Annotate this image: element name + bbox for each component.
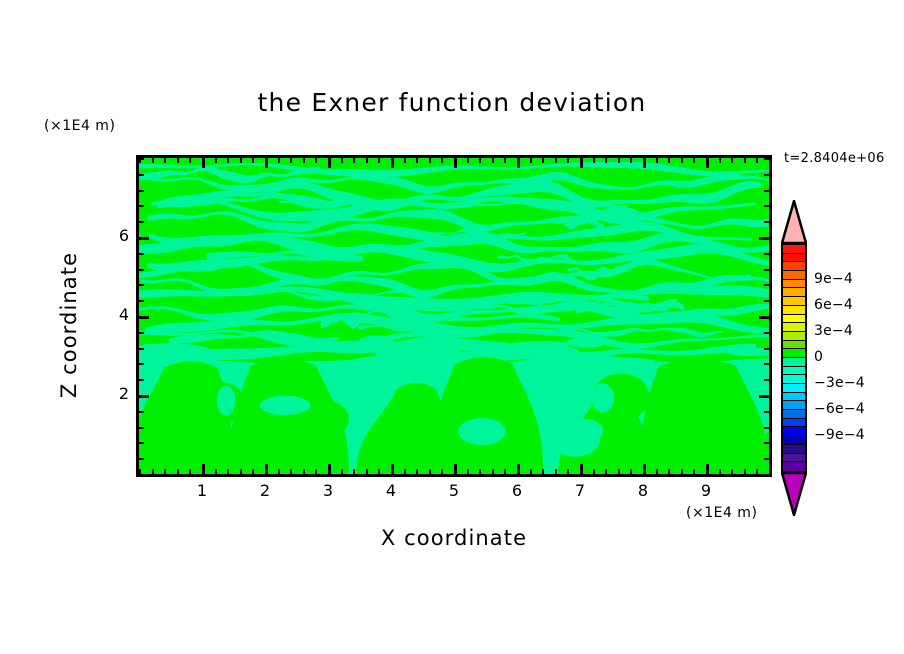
tick-mark — [353, 158, 355, 163]
x-tick-label: 1 — [187, 481, 217, 500]
colorbar-over-arrow-icon — [781, 200, 807, 244]
tick-mark — [681, 469, 683, 474]
page-title: the Exner function deviation — [0, 88, 904, 117]
tick-mark — [479, 469, 481, 474]
tick-mark — [202, 464, 205, 474]
colorbar-band — [783, 375, 805, 384]
tick-mark — [643, 464, 646, 474]
tick-mark — [756, 158, 758, 163]
tick-mark — [759, 237, 769, 240]
tick-mark — [240, 158, 242, 163]
tick-mark — [567, 469, 569, 474]
colorbar-band — [783, 393, 805, 402]
colorbar-band — [783, 367, 805, 376]
colorbar-tick-label: 0 — [814, 349, 823, 365]
tick-mark — [404, 158, 406, 163]
tick-mark — [265, 158, 268, 168]
tick-mark — [240, 469, 242, 474]
contour-field — [139, 158, 769, 474]
tick-mark — [731, 469, 733, 474]
tick-mark — [139, 284, 144, 286]
tick-mark — [139, 174, 144, 176]
tick-mark — [139, 237, 149, 240]
tick-mark — [542, 158, 544, 163]
tick-mark — [328, 158, 331, 168]
tick-mark — [139, 316, 149, 319]
tick-mark — [416, 469, 418, 474]
tick-mark — [139, 411, 144, 413]
tick-mark — [139, 442, 144, 444]
tick-mark — [719, 158, 721, 163]
tick-mark — [391, 464, 394, 474]
colorbar-tick-label: 6e−4 — [814, 297, 853, 313]
colorbar-band — [783, 349, 805, 358]
tick-mark — [139, 332, 144, 334]
tick-mark — [764, 253, 769, 255]
x-tick-label: 7 — [565, 481, 595, 500]
colorbar-band — [783, 323, 805, 332]
tick-mark — [278, 158, 280, 163]
tick-mark — [764, 174, 769, 176]
x-tick-label: 2 — [250, 481, 280, 500]
colorbar-band — [783, 297, 805, 306]
colorbar-band — [783, 245, 805, 254]
colorbar-band — [783, 315, 805, 324]
tick-mark — [303, 158, 305, 163]
colorbar-band — [783, 401, 805, 410]
tick-mark — [656, 158, 658, 163]
x-tick-label: 6 — [502, 481, 532, 500]
colorbar-band — [783, 384, 805, 393]
tick-mark — [693, 158, 695, 163]
x-axis-title: X coordinate — [136, 526, 772, 550]
tick-mark — [764, 332, 769, 334]
colorbar-band — [783, 254, 805, 263]
tick-mark — [366, 158, 368, 163]
tick-mark — [227, 158, 229, 163]
colorbar-band — [783, 332, 805, 341]
tick-mark — [366, 469, 368, 474]
tick-mark — [139, 395, 149, 398]
tick-mark — [618, 158, 620, 163]
y-tick-label: 4 — [99, 305, 129, 324]
tick-mark — [769, 158, 771, 163]
colorbar-band — [783, 454, 805, 463]
tick-mark — [479, 158, 481, 163]
colorbar-tick-label: 3e−4 — [814, 323, 853, 339]
tick-mark — [764, 442, 769, 444]
tick-mark — [764, 363, 769, 365]
tick-mark — [492, 158, 494, 163]
timestamp-annotation: t=2.8404e+06 — [784, 151, 885, 166]
tick-mark — [492, 469, 494, 474]
colorbar-band — [783, 462, 805, 471]
colorbar-tick-label: −6e−4 — [814, 401, 865, 417]
tick-mark — [719, 469, 721, 474]
tick-mark — [303, 469, 305, 474]
tick-mark — [416, 158, 418, 163]
tick-mark — [152, 469, 154, 474]
tick-mark — [504, 469, 506, 474]
x-tick-label: 8 — [628, 481, 658, 500]
colorbar-band — [783, 410, 805, 419]
tick-mark — [630, 469, 632, 474]
tick-mark — [764, 284, 769, 286]
tick-mark — [139, 190, 144, 192]
tick-mark — [530, 158, 532, 163]
tick-mark — [555, 158, 557, 163]
tick-mark — [139, 253, 144, 255]
x-tick-label: 5 — [439, 481, 469, 500]
tick-mark — [378, 469, 380, 474]
tick-mark — [152, 158, 154, 163]
colorbar — [781, 200, 807, 516]
tick-mark — [290, 469, 292, 474]
colorbar-band — [783, 262, 805, 271]
tick-mark — [139, 205, 144, 207]
tick-mark — [764, 221, 769, 223]
tick-mark — [668, 158, 670, 163]
tick-mark — [467, 158, 469, 163]
tick-mark — [177, 158, 179, 163]
tick-mark — [429, 469, 431, 474]
tick-mark — [630, 158, 632, 163]
tick-mark — [189, 469, 191, 474]
tick-mark — [706, 158, 709, 168]
tick-mark — [139, 158, 144, 160]
y-tick-label: 2 — [99, 384, 129, 403]
x-tick-label: 4 — [376, 481, 406, 500]
tick-mark — [378, 158, 380, 163]
tick-mark — [353, 469, 355, 474]
tick-mark — [404, 469, 406, 474]
tick-mark — [668, 469, 670, 474]
tick-mark — [290, 158, 292, 163]
tick-mark — [252, 469, 254, 474]
tick-mark — [706, 464, 709, 474]
tick-mark — [555, 469, 557, 474]
tick-mark — [756, 469, 758, 474]
tick-mark — [441, 158, 443, 163]
y-tick-label: 6 — [99, 226, 129, 245]
tick-mark — [744, 469, 746, 474]
tick-mark — [504, 158, 506, 163]
tick-mark — [441, 469, 443, 474]
x-axis-unit-label: (×1E4 m) — [686, 505, 757, 521]
tick-mark — [139, 300, 144, 302]
tick-mark — [731, 158, 733, 163]
tick-mark — [139, 363, 144, 365]
tick-mark — [429, 158, 431, 163]
colorbar-band — [783, 427, 805, 436]
tick-mark — [656, 469, 658, 474]
tick-mark — [189, 158, 191, 163]
tick-mark — [341, 158, 343, 163]
colorbar-band — [783, 436, 805, 445]
tick-mark — [139, 427, 144, 429]
tick-mark — [764, 458, 769, 460]
colorbar-bands — [781, 243, 807, 473]
y-axis-title: Z coordinate — [57, 215, 81, 435]
tick-mark — [764, 205, 769, 207]
y-axis-unit-label: (×1E4 m) — [44, 118, 115, 134]
tick-mark — [139, 348, 144, 350]
tick-mark — [164, 158, 166, 163]
x-tick-label: 3 — [313, 481, 343, 500]
tick-mark — [593, 158, 595, 163]
colorbar-band — [783, 419, 805, 428]
tick-mark — [215, 469, 217, 474]
tick-mark — [252, 158, 254, 163]
tick-mark — [517, 158, 520, 168]
tick-mark — [139, 458, 144, 460]
colorbar-tick-label: −9e−4 — [814, 427, 865, 443]
tick-mark — [202, 158, 205, 168]
colorbar-band — [783, 445, 805, 454]
colorbar-band — [783, 280, 805, 289]
tick-mark — [164, 469, 166, 474]
contour-plot-area — [136, 155, 772, 477]
tick-mark — [139, 474, 144, 476]
tick-mark — [605, 158, 607, 163]
tick-mark — [764, 300, 769, 302]
colorbar-band — [783, 358, 805, 367]
tick-mark — [139, 379, 144, 381]
tick-mark — [580, 464, 583, 474]
tick-mark — [215, 158, 217, 163]
colorbar-band — [783, 306, 805, 315]
tick-mark — [764, 269, 769, 271]
tick-mark — [227, 469, 229, 474]
colorbar-band — [783, 271, 805, 280]
tick-mark — [315, 469, 317, 474]
tick-mark — [467, 469, 469, 474]
tick-mark — [517, 464, 520, 474]
tick-mark — [580, 158, 583, 168]
tick-mark — [177, 469, 179, 474]
tick-mark — [567, 158, 569, 163]
tick-mark — [759, 316, 769, 319]
tick-mark — [769, 469, 771, 474]
colorbar-band — [783, 341, 805, 350]
tick-mark — [328, 464, 331, 474]
x-tick-label: 9 — [691, 481, 721, 500]
colorbar-under-arrow-icon — [781, 472, 807, 516]
tick-mark — [764, 427, 769, 429]
tick-mark — [759, 395, 769, 398]
tick-mark — [391, 158, 394, 168]
tick-mark — [530, 469, 532, 474]
tick-mark — [454, 464, 457, 474]
tick-mark — [764, 348, 769, 350]
tick-mark — [454, 158, 457, 168]
tick-mark — [764, 158, 769, 160]
tick-mark — [618, 469, 620, 474]
tick-mark — [278, 469, 280, 474]
tick-mark — [341, 469, 343, 474]
tick-mark — [593, 469, 595, 474]
tick-mark — [764, 474, 769, 476]
tick-mark — [139, 221, 144, 223]
tick-mark — [265, 464, 268, 474]
tick-mark — [605, 469, 607, 474]
colorbar-tick-label: −3e−4 — [814, 375, 865, 391]
tick-mark — [764, 379, 769, 381]
tick-mark — [693, 469, 695, 474]
tick-mark — [764, 411, 769, 413]
tick-mark — [315, 158, 317, 163]
tick-mark — [681, 158, 683, 163]
tick-mark — [643, 158, 646, 168]
colorbar-tick-label: 9e−4 — [814, 271, 853, 287]
tick-mark — [139, 269, 144, 271]
tick-mark — [744, 158, 746, 163]
tick-mark — [542, 469, 544, 474]
colorbar-band — [783, 288, 805, 297]
tick-mark — [764, 190, 769, 192]
